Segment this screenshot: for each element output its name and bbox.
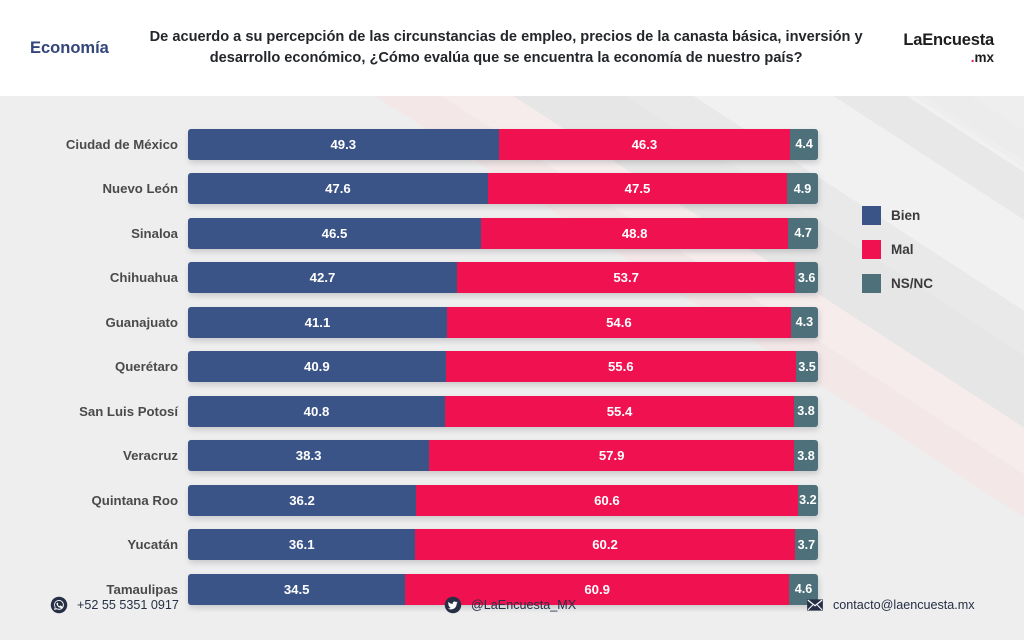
bar-row: San Luis Potosí40.855.43.8 [0, 393, 818, 429]
bar-segment-mal[interactable]: 54.6 [447, 307, 791, 338]
bar-segment-bien[interactable]: 41.1 [188, 307, 447, 338]
stacked-bar-track: 36.160.23.7 [188, 529, 818, 560]
header-bar: Economía De acuerdo a su percepción de l… [0, 0, 1024, 96]
legend-swatch-icon [862, 274, 881, 293]
bar-row-label: Veracruz [0, 448, 188, 463]
logo-tld-text: mx [974, 50, 994, 65]
bar-row-label: Quintana Roo [0, 493, 188, 508]
bar-segment-mal[interactable]: 53.7 [457, 262, 795, 293]
bar-segment-bien[interactable]: 40.8 [188, 396, 445, 427]
bar-row: Veracruz38.357.93.8 [0, 438, 818, 474]
bar-row: Sinaloa46.548.84.7 [0, 215, 818, 251]
bar-segment-value: 60.2 [592, 537, 618, 552]
bar-segment-mal[interactable]: 47.5 [488, 173, 787, 204]
stacked-bar-track: 41.154.64.3 [188, 307, 818, 338]
bar-segment-value: 47.6 [325, 181, 351, 196]
bar-segment-value: 3.8 [797, 404, 815, 418]
bar-row-label: Yucatán [0, 537, 188, 552]
envelope-icon [806, 596, 824, 614]
whatsapp-icon [50, 596, 68, 614]
stacked-bar-track: 42.753.73.6 [188, 262, 818, 293]
bar-row-label: Chihuahua [0, 270, 188, 285]
stacked-bar-track: 47.647.54.9 [188, 173, 818, 204]
bar-segment-value: 3.2 [799, 493, 817, 507]
bar-segment-value: 3.5 [798, 360, 816, 374]
bar-segment-ns-nc[interactable]: 3.8 [794, 396, 818, 427]
contact-phone[interactable]: +52 55 5351 0917 [50, 596, 179, 614]
chart-legend: BienMalNS/NC [862, 206, 933, 308]
bar-row: Chihuahua42.753.73.6 [0, 260, 818, 296]
legend-item-bien[interactable]: Bien [862, 206, 933, 225]
bar-row-label: Sinaloa [0, 226, 188, 241]
legend-item-mal[interactable]: Mal [862, 240, 933, 259]
bar-segment-ns-nc[interactable]: 3.7 [795, 529, 818, 560]
bar-row-label: San Luis Potosí [0, 404, 188, 419]
bar-segment-mal[interactable]: 57.9 [429, 440, 794, 471]
bar-segment-value: 36.2 [289, 493, 315, 508]
logo-tld: .mx [903, 50, 994, 65]
bar-row-label: Querétaro [0, 359, 188, 374]
legend-label: NS/NC [891, 276, 933, 291]
bar-segment-value: 40.9 [304, 359, 330, 374]
bar-segment-bien[interactable]: 42.7 [188, 262, 457, 293]
bar-row: Ciudad de México49.346.34.4 [0, 126, 818, 162]
bar-segment-value: 4.4 [795, 137, 813, 151]
bar-segment-mal[interactable]: 46.3 [499, 129, 791, 160]
bar-segment-mal[interactable]: 60.6 [416, 485, 798, 516]
chart-area: BienMalNS/NC Ciudad de México49.346.34.4… [0, 96, 1024, 570]
bar-segment-value: 36.1 [289, 537, 315, 552]
contact-twitter-text: @LaEncuesta_MX [471, 598, 576, 612]
bar-segment-bien[interactable]: 46.5 [188, 218, 481, 249]
stacked-bar-track: 40.855.43.8 [188, 396, 818, 427]
bar-segment-value: 60.6 [594, 493, 620, 508]
bar-segment-mal[interactable]: 55.6 [446, 351, 796, 382]
legend-swatch-icon [862, 206, 881, 225]
bar-segment-bien[interactable]: 40.9 [188, 351, 446, 382]
brand-logo: LaEncuesta .mx [903, 31, 1000, 65]
stacked-bar-track: 38.357.93.8 [188, 440, 818, 471]
bar-segment-value: 46.5 [322, 226, 348, 241]
twitter-icon [444, 596, 462, 614]
bar-segment-ns-nc[interactable]: 3.8 [794, 440, 818, 471]
bar-segment-ns-nc[interactable]: 4.3 [791, 307, 818, 338]
legend-item-ns-nc[interactable]: NS/NC [862, 274, 933, 293]
bar-segment-value: 53.7 [613, 270, 639, 285]
contact-email[interactable]: contacto@laencuesta.mx [806, 596, 975, 614]
bar-segment-bien[interactable]: 36.1 [188, 529, 415, 560]
bar-row-label: Guanajuato [0, 315, 188, 330]
bar-segment-ns-nc[interactable]: 4.4 [790, 129, 818, 160]
bar-segment-value: 48.8 [622, 226, 648, 241]
logo-wordmark: LaEncuesta [903, 31, 994, 49]
contact-email-text: contacto@laencuesta.mx [833, 598, 975, 612]
bar-segment-value: 54.6 [606, 315, 632, 330]
bar-segment-value: 4.3 [796, 315, 814, 329]
bar-segment-value: 55.4 [607, 404, 633, 419]
question-container: De acuerdo a su percepción de las circun… [109, 27, 904, 69]
bar-row: Quintana Roo36.260.63.2 [0, 482, 818, 518]
footer-bar: +52 55 5351 0917 @LaEncuesta_MX contacto… [0, 570, 1024, 640]
bar-segment-mal[interactable]: 55.4 [445, 396, 794, 427]
stacked-bar-track: 40.955.63.5 [188, 351, 818, 382]
bar-segment-ns-nc[interactable]: 3.5 [796, 351, 818, 382]
bar-segment-mal[interactable]: 48.8 [481, 218, 788, 249]
bar-row: Nuevo León47.647.54.9 [0, 171, 818, 207]
bar-segment-value: 42.7 [310, 270, 336, 285]
bar-segment-value: 4.7 [794, 226, 812, 240]
bar-segment-ns-nc[interactable]: 4.7 [788, 218, 818, 249]
bar-segment-bien[interactable]: 47.6 [188, 173, 488, 204]
bar-segment-value: 40.8 [304, 404, 330, 419]
legend-swatch-icon [862, 240, 881, 259]
bar-row-label: Ciudad de México [0, 137, 188, 152]
stacked-bar-track: 49.346.34.4 [188, 129, 818, 160]
bar-segment-value: 4.9 [794, 182, 812, 196]
chart-question-title: De acuerdo a su percepción de las circun… [141, 27, 871, 69]
bar-segment-value: 41.1 [305, 315, 331, 330]
bar-segment-bien[interactable]: 49.3 [188, 129, 499, 160]
bar-row: Querétaro40.955.63.5 [0, 349, 818, 385]
bar-segment-value: 38.3 [296, 448, 322, 463]
stacked-bar-track: 46.548.84.7 [188, 218, 818, 249]
bar-row: Guanajuato41.154.64.3 [0, 304, 818, 340]
bar-segment-mal[interactable]: 60.2 [415, 529, 794, 560]
bar-segment-value: 3.7 [798, 538, 816, 552]
bar-segment-value: 55.6 [608, 359, 634, 374]
bar-rows-container: Ciudad de México49.346.34.4Nuevo León47.… [0, 126, 818, 607]
stacked-bar-track: 36.260.63.2 [188, 485, 818, 516]
bar-row-label: Nuevo León [0, 181, 188, 196]
bar-segment-value: 49.3 [330, 137, 356, 152]
bar-row: Yucatán36.160.23.7 [0, 527, 818, 563]
legend-label: Mal [891, 242, 914, 257]
section-label: Economía [28, 39, 109, 58]
contact-twitter[interactable]: @LaEncuesta_MX [444, 596, 576, 614]
bar-segment-value: 57.9 [599, 448, 625, 463]
bar-segment-value: 46.3 [632, 137, 658, 152]
bar-segment-ns-nc[interactable]: 4.9 [787, 173, 818, 204]
contact-phone-text: +52 55 5351 0917 [77, 598, 179, 612]
bar-segment-ns-nc[interactable]: 3.2 [798, 485, 818, 516]
bar-segment-bien[interactable]: 38.3 [188, 440, 429, 471]
bar-segment-ns-nc[interactable]: 3.6 [795, 262, 818, 293]
bar-segment-bien[interactable]: 36.2 [188, 485, 416, 516]
bar-segment-value: 3.6 [798, 271, 816, 285]
bar-segment-value: 3.8 [797, 449, 815, 463]
legend-label: Bien [891, 208, 920, 223]
bar-segment-value: 47.5 [625, 181, 651, 196]
